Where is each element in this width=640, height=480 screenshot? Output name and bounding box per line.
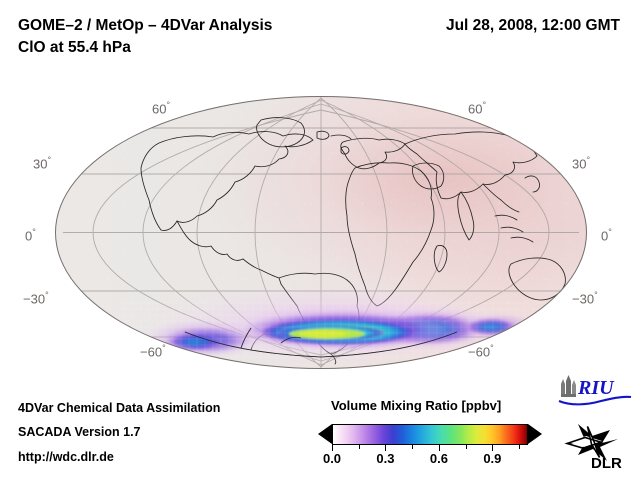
colorbar-major-tick <box>385 445 386 451</box>
footer-line-description: 4DVar Chemical Data Assimilation <box>18 401 220 415</box>
clo-plume-data-layer <box>55 96 587 369</box>
lat-label-left-minus60: −60° <box>140 343 166 359</box>
colorbar-tick-label: 0.6 <box>430 451 448 466</box>
footer-line-url[interactable]: http://wdc.dlr.de <box>18 450 114 464</box>
colorbar-tick-label: 0.3 <box>376 451 394 466</box>
page-title: GOME–2 / MetOp – 4DVar Analysis <box>18 17 272 35</box>
page-subtitle: ClO at 55.4 hPa <box>18 39 131 57</box>
lat-label-left-60: 60° <box>152 100 170 116</box>
riu-towers-icon <box>561 375 576 397</box>
riu-logo: RIU <box>557 374 633 408</box>
dlr-logo: DLR <box>558 414 634 470</box>
lat-label-right-30: 30° <box>572 155 590 171</box>
lat-label-right-0: 0° <box>601 227 612 243</box>
colorbar-minor-tick <box>412 445 413 449</box>
colorbar-major-tick <box>332 445 333 451</box>
colorbar-extend-min-arrow <box>318 424 332 444</box>
riu-logo-text: RIU <box>577 377 615 399</box>
lat-label-left-minus30: −30° <box>23 290 49 306</box>
colorbar-minor-tick <box>359 445 360 449</box>
colorbar-tick-label: 0.0 <box>323 451 341 466</box>
colorbar-minor-tick <box>519 445 520 449</box>
globe-clip <box>55 96 587 369</box>
timestamp-label: Jul 28, 2008, 12:00 GMT <box>446 17 620 35</box>
lat-label-right-60: 60° <box>468 100 486 116</box>
lat-label-left-0: 0° <box>25 227 36 243</box>
lat-label-right-minus30: −30° <box>572 290 598 306</box>
colorbar-tick-label: 0.9 <box>483 451 501 466</box>
figure-canvas: GOME–2 / MetOp – 4DVar Analysis ClO at 5… <box>0 0 640 480</box>
colorbar-minor-tick <box>466 445 467 449</box>
colorbar-gradient <box>332 424 528 445</box>
map-plot <box>55 96 587 369</box>
colorbar-title: Volume Mixing Ratio [ppbv] <box>331 398 501 413</box>
footer-line-version: SACADA Version 1.7 <box>18 425 141 439</box>
colorbar-major-tick <box>439 445 440 451</box>
colorbar-tick-labels: 0.00.30.60.9 <box>318 451 542 469</box>
colorbar <box>318 424 542 445</box>
lat-label-left-30: 30° <box>33 155 51 171</box>
colorbar-extend-max-arrow <box>528 424 542 444</box>
dlr-logo-text: DLR <box>591 455 622 470</box>
lat-label-right-minus60: −60° <box>468 343 494 359</box>
colorbar-major-tick <box>492 445 493 451</box>
